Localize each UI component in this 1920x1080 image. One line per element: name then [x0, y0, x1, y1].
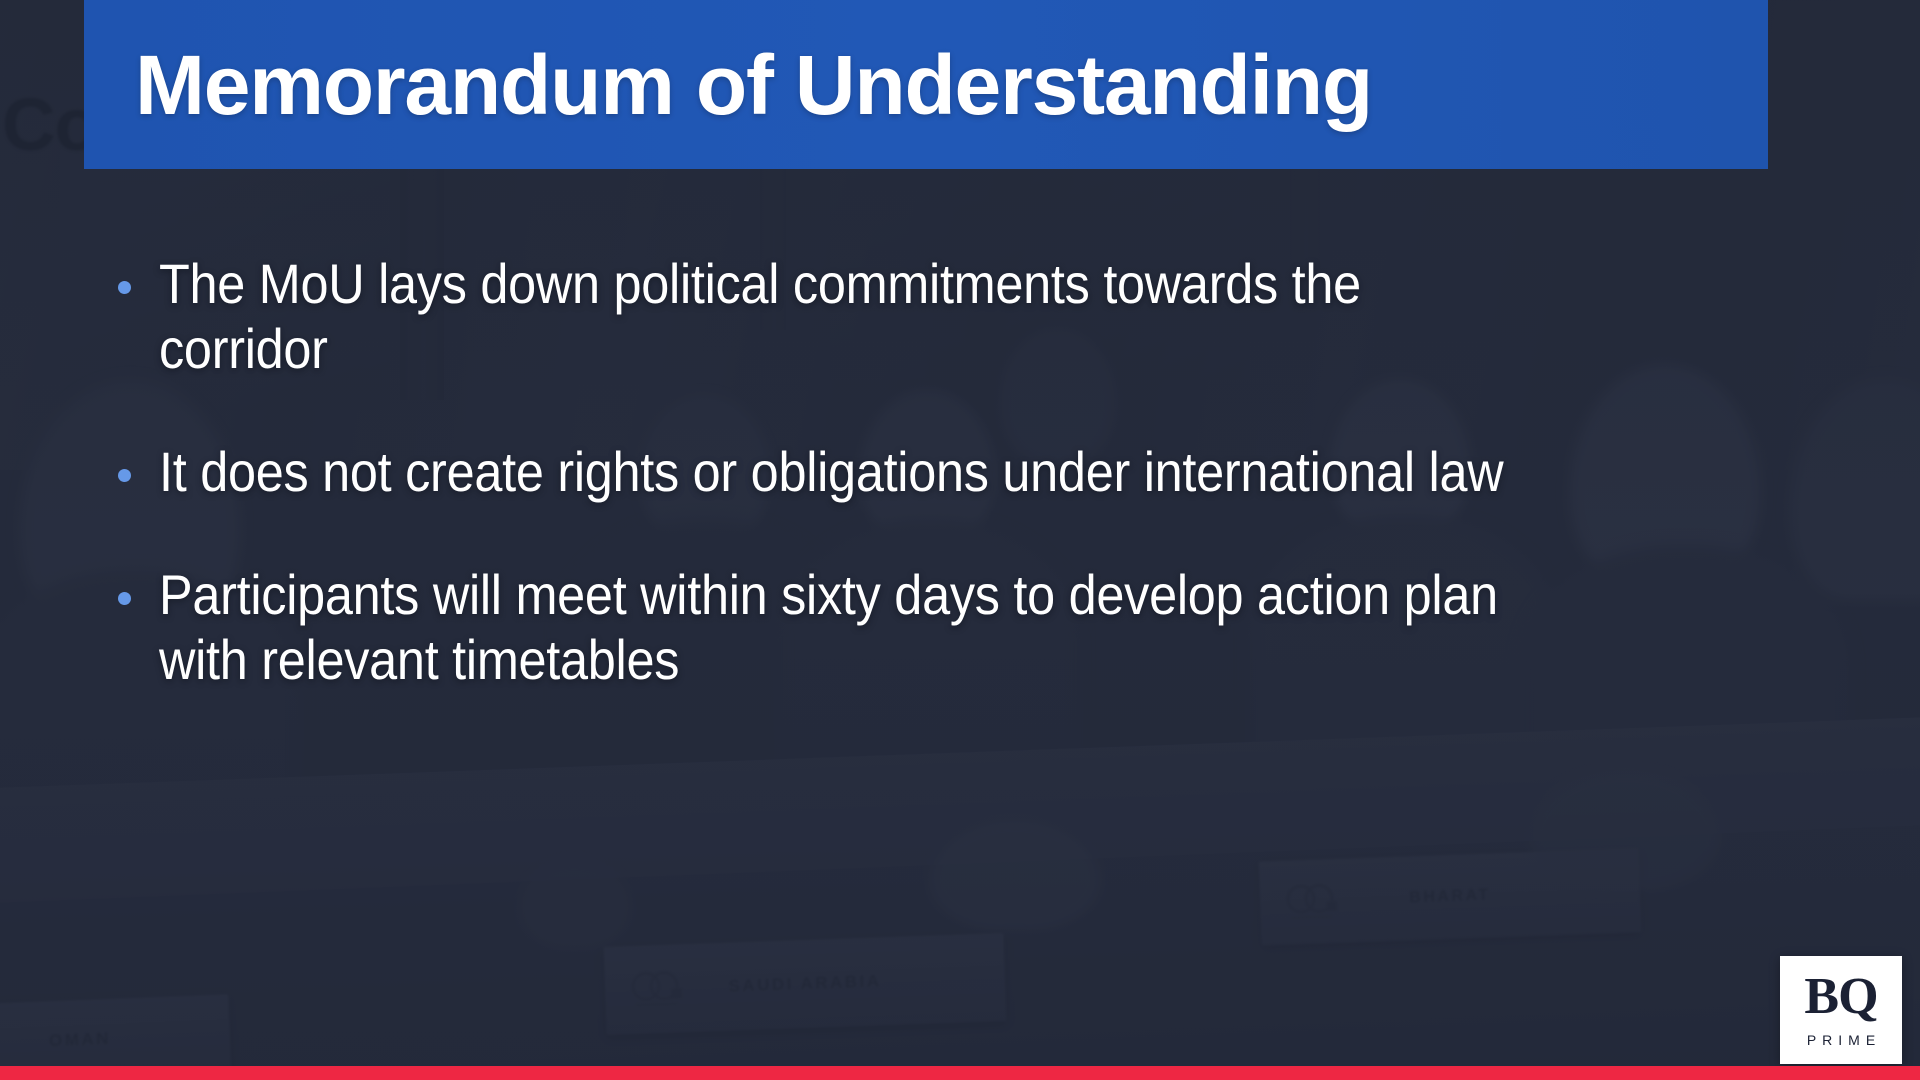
presentation-slide: OMAN SAUDI ARABIA BHARAT — [0, 0, 1920, 1080]
list-item: Participants will meet within sixty days… — [118, 563, 1778, 693]
list-item-text: It does not create rights or obligations… — [159, 440, 1503, 505]
bottom-accent-bar — [0, 1066, 1920, 1080]
title-band: Memorandum of Understanding — [84, 0, 1768, 169]
bullet-list: The MoU lays down political commitments … — [118, 252, 1778, 693]
bullet-dot-icon — [118, 281, 131, 294]
bq-prime-logo: BQ PRIME — [1780, 956, 1902, 1064]
logo-mark: BQ — [1804, 972, 1877, 1021]
bullet-dot-icon — [118, 469, 131, 482]
list-item-text: Participants will meet within sixty days… — [159, 563, 1509, 693]
page-title: Memorandum of Understanding — [135, 43, 1372, 127]
logo-wordmark: PRIME — [1807, 1032, 1881, 1048]
list-item-text: The MoU lays down political commitments … — [159, 252, 1509, 382]
bullet-dot-icon — [118, 592, 131, 605]
list-item: It does not create rights or obligations… — [118, 440, 1778, 505]
list-item: The MoU lays down political commitments … — [118, 252, 1778, 382]
